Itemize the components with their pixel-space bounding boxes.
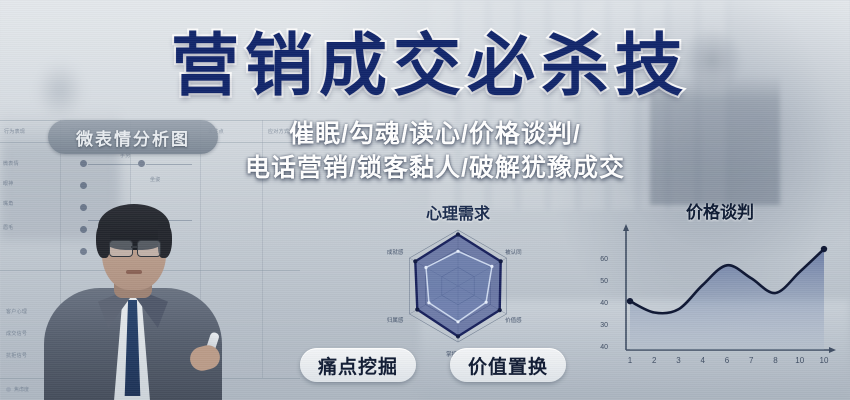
- diagram-label: 嘴角: [3, 200, 14, 207]
- tag-value-exchange[interactable]: 价值置换: [450, 348, 566, 382]
- diagram-node: [80, 182, 87, 189]
- line-chart-x-tick: 7: [744, 356, 758, 365]
- line-chart-x-tick: 10: [817, 356, 831, 365]
- line-chart-svg: [600, 222, 840, 372]
- diagram-label: 行为表现: [4, 128, 25, 135]
- tag-value-exchange-label: 价值置换: [468, 352, 548, 379]
- tag-pain-point[interactable]: 痛点挖掘: [300, 348, 416, 382]
- line-chart-y-tick: 40: [592, 344, 608, 351]
- diagram-label: 眼神: [3, 180, 14, 187]
- line-chart-x-tick: 4: [696, 356, 710, 365]
- diagram-label: 坐姿: [150, 176, 161, 183]
- subtitle-line-2: 电话营销/锁客黏人/破解犹豫成交: [185, 152, 685, 186]
- line-chart-x-tick: 10: [793, 356, 807, 365]
- radar-axis-label: 归属感: [387, 316, 404, 324]
- line-chart-title: 价格谈判: [600, 198, 840, 223]
- glasses-lens-right: [137, 240, 161, 257]
- radar-chart: 心理需求 安全被认同价值感掌控感归属感成就感: [348, 200, 568, 360]
- line-chart-x-tick: 1: [623, 356, 637, 365]
- diagram-label: 成交信号: [6, 330, 27, 337]
- badge-micro-expression-label: 微表情分析图: [76, 125, 190, 150]
- radar-chart-svg: [348, 218, 568, 358]
- radar-axis-label: 价值感: [505, 316, 522, 324]
- marketing-banner: 行为表现 情绪状态 代表动作 关注点 应对方式 微表情 眼神 嘴角 眉毛 手势 …: [0, 0, 850, 400]
- glasses-bridge: [131, 246, 137, 248]
- diagram-label: 微表情: [3, 160, 19, 167]
- line-chart-y-tick: 40: [592, 300, 608, 307]
- radar-axis-label: 安全: [446, 214, 457, 222]
- glasses-lens-left: [109, 240, 133, 257]
- tag-pain-point-label: 痛点挖掘: [318, 352, 398, 379]
- legend-item: 焦虑度: [6, 386, 29, 393]
- line-chart-y-tick: 30: [592, 322, 608, 329]
- line-chart-y-tick: 60: [592, 256, 608, 263]
- line-chart-y-tick: 50: [592, 278, 608, 285]
- radar-axis-label: 成就感: [387, 248, 404, 256]
- page-title: 营销成交必杀技: [150, 32, 710, 100]
- line-chart: 价格谈判 6050403040 12346781010: [600, 198, 840, 388]
- page-subtitle: 催眠/勾魂/读心/价格谈判/ 电话营销/锁客黏人/破解犹豫成交: [185, 118, 685, 185]
- line-chart-x-tick: 2: [647, 356, 661, 365]
- radar-axis-label: 被认同: [505, 248, 522, 256]
- diagram-label: 抗拒信号: [6, 352, 27, 359]
- presenter-photo: [38, 196, 228, 400]
- presenter-mouth: [126, 270, 142, 274]
- diagram-label: 眉毛: [3, 224, 14, 231]
- presenter-hair-side-left: [96, 224, 110, 258]
- diagram-label: 客户心理: [6, 308, 27, 315]
- diagram-node: [80, 160, 87, 167]
- line-chart-x-tick: 6: [720, 356, 734, 365]
- line-chart-x-tick: 3: [672, 356, 686, 365]
- subtitle-line-1: 催眠/勾魂/读心/价格谈判/: [185, 118, 685, 152]
- line-chart-x-tick: 8: [769, 356, 783, 365]
